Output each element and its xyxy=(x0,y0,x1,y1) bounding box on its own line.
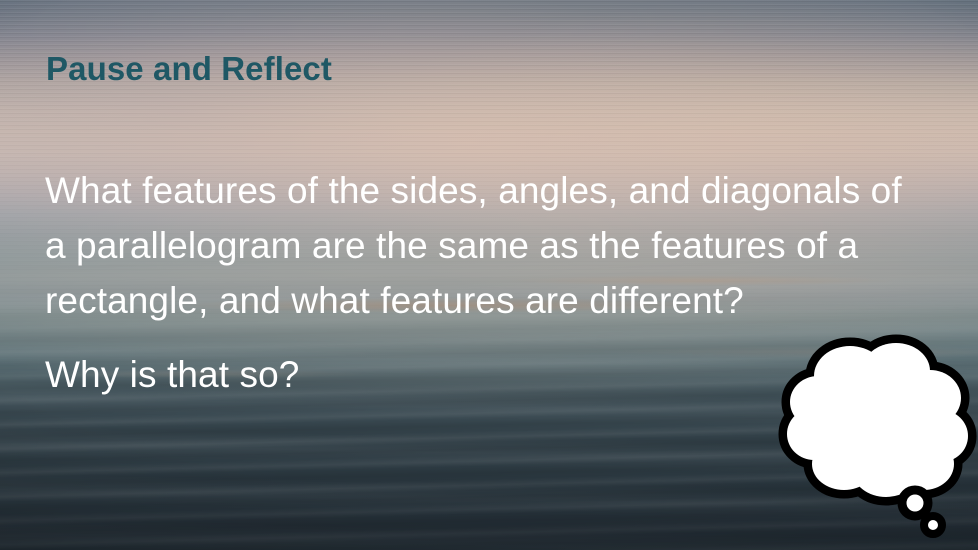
slide-content: Pause and Reflect What features of the s… xyxy=(0,0,978,550)
slide-canvas: Pause and Reflect What features of the s… xyxy=(0,0,978,550)
body-paragraph-question: What features of the sides, angles, and … xyxy=(45,163,925,328)
thought-bubble-icon xyxy=(778,336,978,550)
page-title: Pause and Reflect xyxy=(46,50,332,88)
thought-bubble-cloud xyxy=(787,343,968,497)
